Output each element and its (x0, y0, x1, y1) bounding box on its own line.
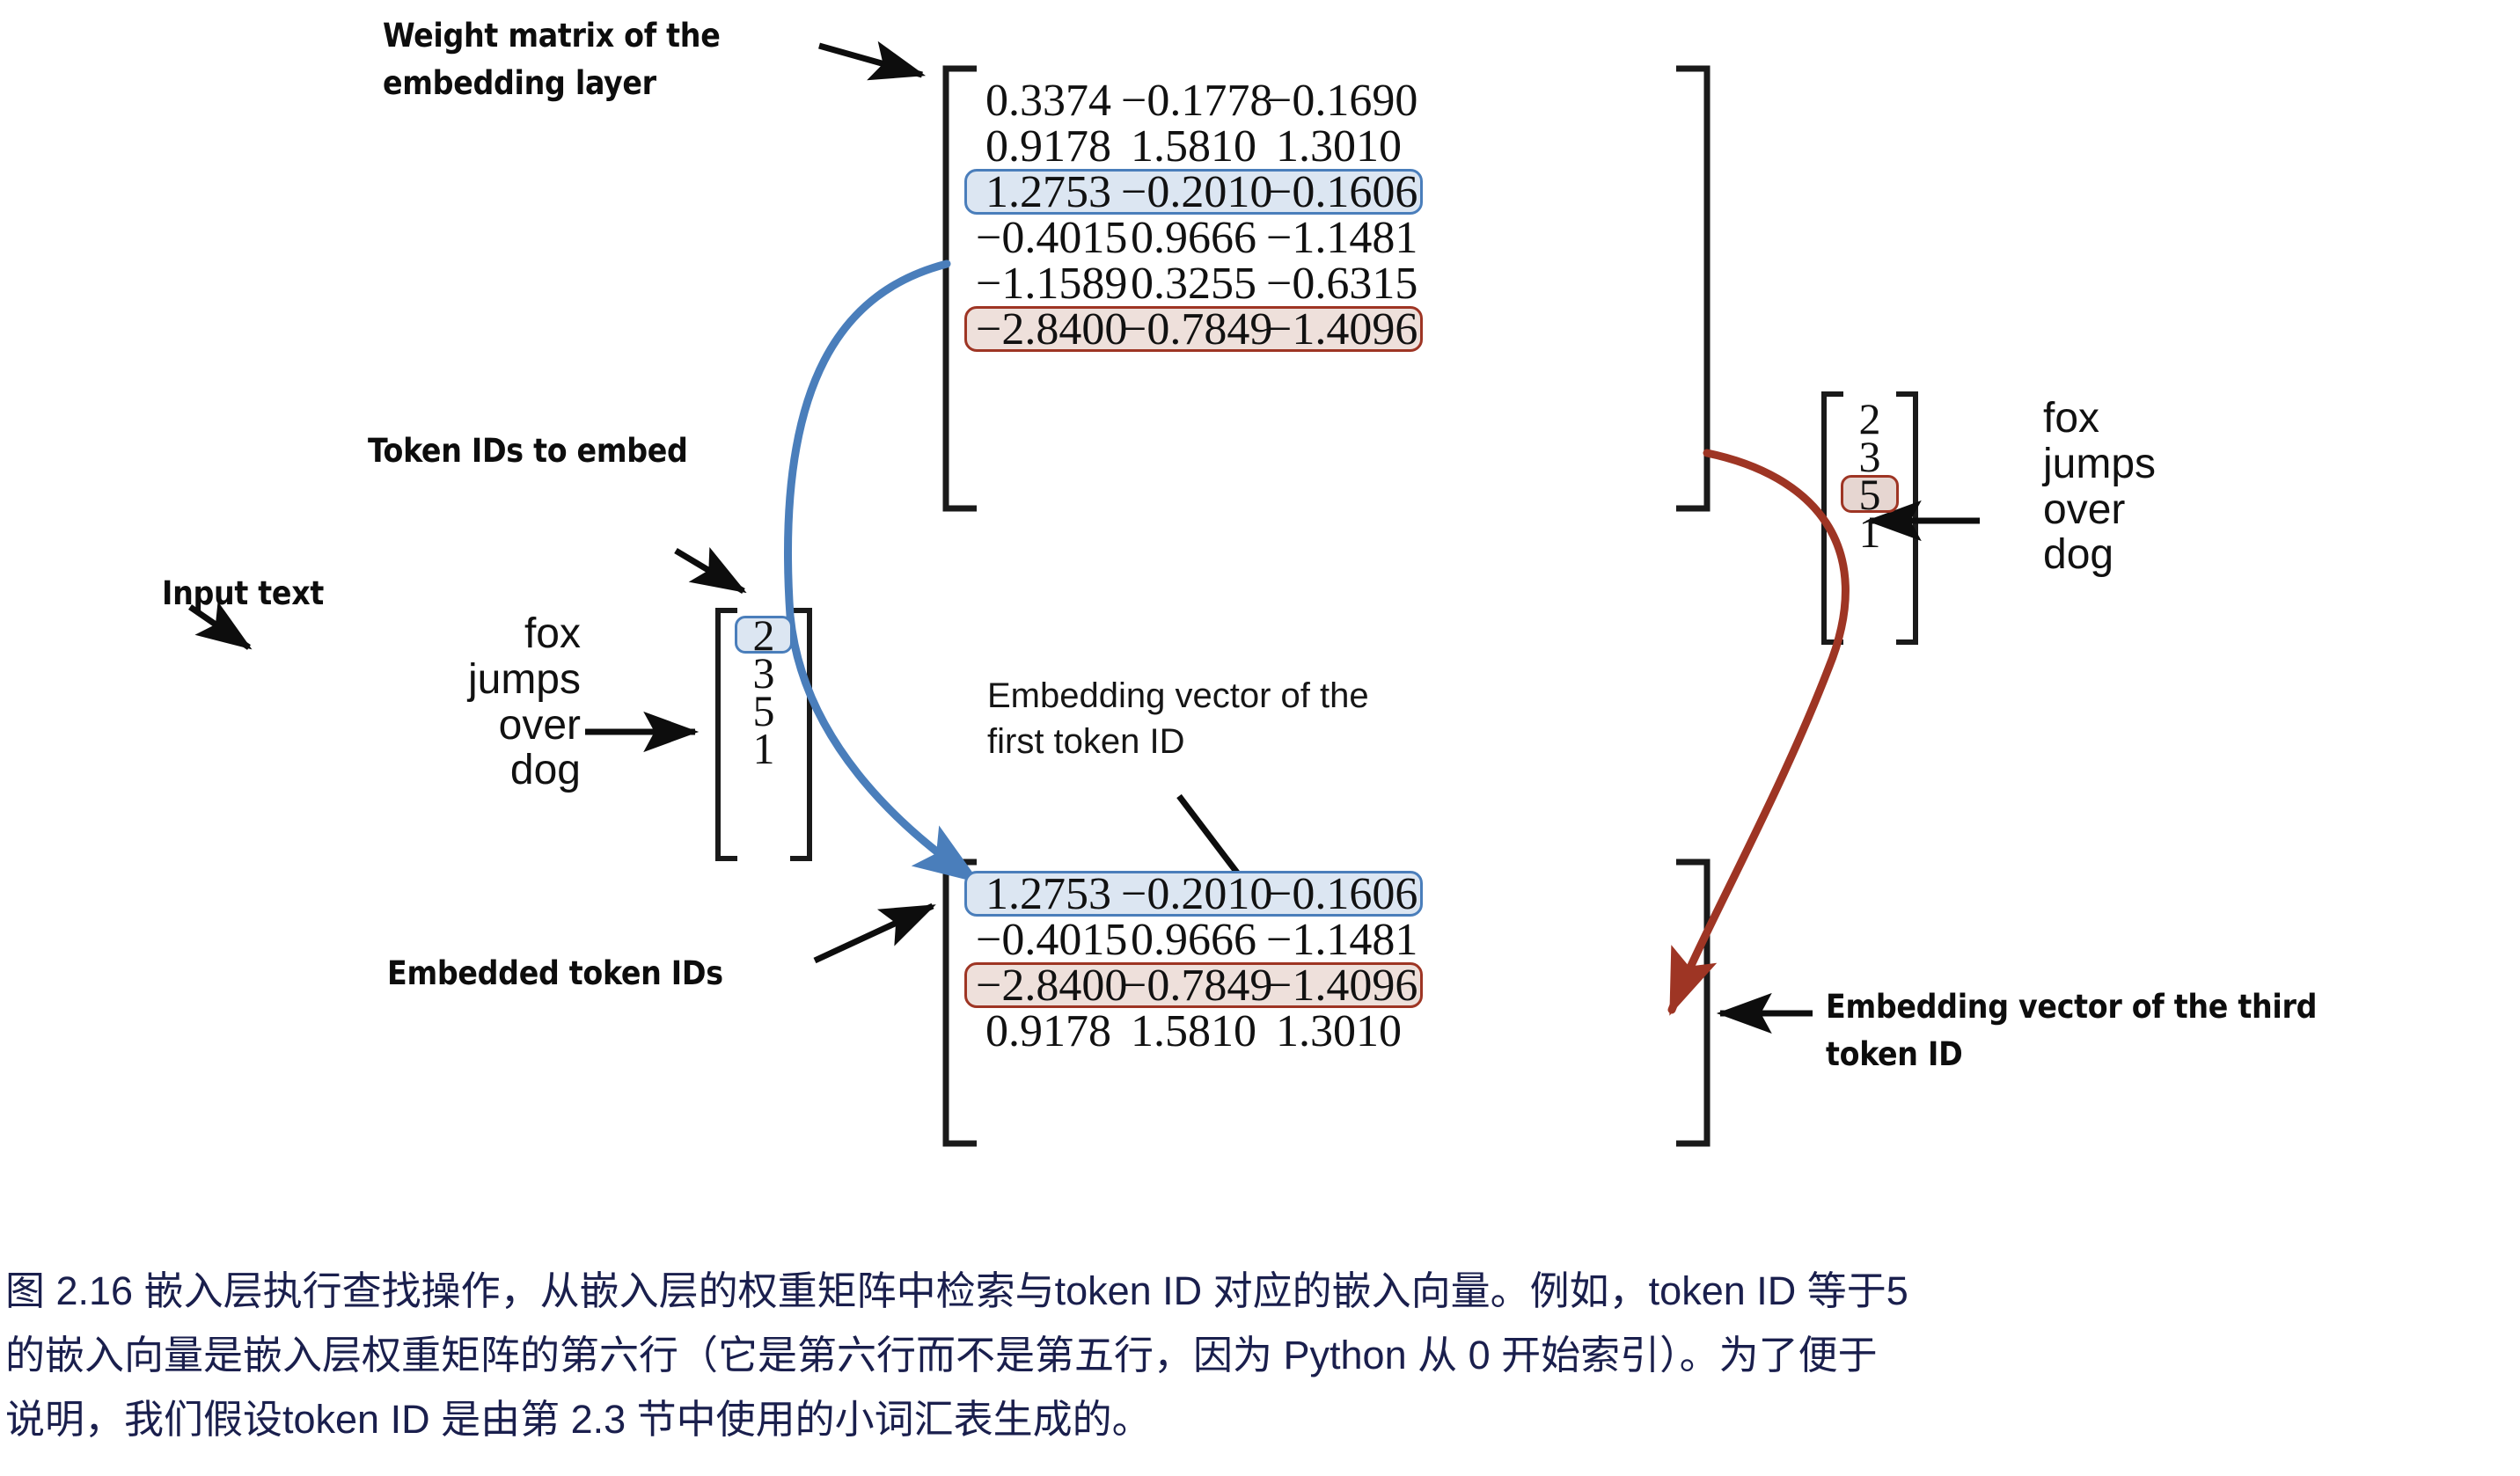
right-word: over (2043, 487, 2333, 533)
matrix-cell: −0.1606 (1266, 868, 1411, 920)
matrix-cell: −1.1481 (1266, 914, 1411, 966)
matrix-cell: −0.4015 (976, 212, 1121, 264)
matrix-row: −1.1589 0.3255 −0.6315 (964, 260, 1423, 306)
matrix-row-highlight-red: −2.8400 −0.7849 −1.4096 (964, 306, 1423, 352)
input-word: over (312, 703, 581, 749)
token-id-vector-left: 2 3 5 1 (735, 616, 793, 767)
matrix-cell: 1.3010 (1266, 1005, 1411, 1057)
matrix-cell: −0.4015 (976, 914, 1121, 966)
input-word: jumps (312, 657, 581, 703)
blue-lookup-curve (787, 264, 975, 880)
caption-line: 说明，我们假设token ID 是由第 2.3 节中使用的小词汇表生成的。 (5, 1388, 2513, 1452)
label-token-ids-to-embed: Token IDs to embed (368, 427, 781, 475)
label-weight-matrix: Weight matrix of the embedding layer (383, 12, 796, 106)
embedded-matrix: 1.2753 −0.2010 −0.1606 −0.4015 0.9666 −1… (964, 871, 1423, 1054)
matrix-cell: −0.7849 (1121, 303, 1266, 355)
token-id-cell: 1 (1841, 513, 1899, 551)
input-word: dog (312, 748, 581, 793)
weight-matrix: 0.3374 −0.1778 −0.1690 0.9178 1.5810 1.3… (964, 77, 1423, 352)
matrix-cell: −1.4096 (1266, 303, 1411, 355)
matrix-row-highlight-blue: 1.2753 −0.2010 −0.1606 (964, 871, 1423, 917)
right-word: dog (2043, 532, 2333, 578)
arrow-token-ids-to-embed (676, 551, 744, 591)
matrix-row: −0.4015 0.9666 −1.1481 (964, 215, 1423, 260)
matrix-cell: 0.9178 (976, 121, 1121, 172)
caption-line: 图 2.16 嵌入层执行查找操作，从嵌入层的权重矩阵中检索与token ID 对… (5, 1260, 2513, 1324)
matrix-cell: −0.1606 (1266, 166, 1411, 218)
matrix-row-highlight-blue: 1.2753 −0.2010 −0.1606 (964, 169, 1423, 215)
matrix-cell: 1.2753 (976, 868, 1121, 920)
matrix-row: −0.4015 0.9666 −1.1481 (964, 917, 1423, 962)
figure-caption: 图 2.16 嵌入层执行查找操作，从嵌入层的权重矩阵中检索与token ID 对… (5, 1260, 2513, 1452)
matrix-cell: 0.9178 (976, 1005, 1121, 1057)
matrix-cell: −2.8400 (976, 303, 1121, 355)
token-id-vector-right: 2 3 5 1 (1841, 399, 1899, 551)
label-third-token-vector: Embedding vector of the third token ID (1826, 983, 2442, 1078)
right-word: fox (2043, 396, 2333, 442)
matrix-cell: −0.6315 (1266, 258, 1411, 310)
matrix-cell: −1.4096 (1266, 960, 1411, 1012)
matrix-cell: 0.9666 (1121, 212, 1266, 264)
matrix-cell: −0.2010 (1121, 868, 1266, 920)
matrix-cell: −0.1690 (1266, 75, 1411, 127)
matrix-cell: 1.3010 (1266, 121, 1411, 172)
matrix-cell: −1.1481 (1266, 212, 1411, 264)
red-lookup-curve (1672, 453, 1845, 1010)
figure-canvas: Weight matrix of the embedding layer Tok… (0, 0, 2520, 1476)
input-words-column: fox jumps over dog (312, 611, 581, 793)
token-id-cell: 1 (735, 729, 793, 767)
label-input-text: Input text (162, 570, 391, 617)
right-word: jumps (2043, 442, 2333, 487)
matrix-cell: 0.3255 (1121, 258, 1266, 310)
matrix-cell: −0.1778 (1121, 75, 1266, 127)
matrix-cell: −0.2010 (1121, 166, 1266, 218)
matrix-row: 0.9178 1.5810 1.3010 (964, 1008, 1423, 1054)
input-word: fox (312, 611, 581, 657)
matrix-cell: 1.2753 (976, 166, 1121, 218)
right-words-column: fox jumps over dog (2043, 396, 2333, 578)
matrix-cell: −1.1589 (976, 258, 1121, 310)
matrix-cell: −2.8400 (976, 960, 1121, 1012)
matrix-cell: −0.7849 (1121, 960, 1266, 1012)
arrow-weight-matrix (819, 46, 922, 75)
matrix-cell: 0.3374 (976, 75, 1121, 127)
label-embedded-token-ids: Embedded token IDs (387, 950, 845, 997)
caption-line: 的嵌入向量是嵌入层权重矩阵的第六行（它是第六行而不是第五行，因为 Python … (5, 1324, 2513, 1388)
matrix-row: 0.3374 −0.1778 −0.1690 (964, 77, 1423, 123)
label-first-token-vector: Embedding vector of the first token ID (987, 673, 1568, 764)
matrix-row-highlight-red: −2.8400 −0.7849 −1.4096 (964, 962, 1423, 1008)
matrix-cell: 1.5810 (1121, 121, 1266, 172)
matrix-cell: 0.9666 (1121, 914, 1266, 966)
matrix-row: 0.9178 1.5810 1.3010 (964, 123, 1423, 169)
matrix-cell: 1.5810 (1121, 1005, 1266, 1057)
